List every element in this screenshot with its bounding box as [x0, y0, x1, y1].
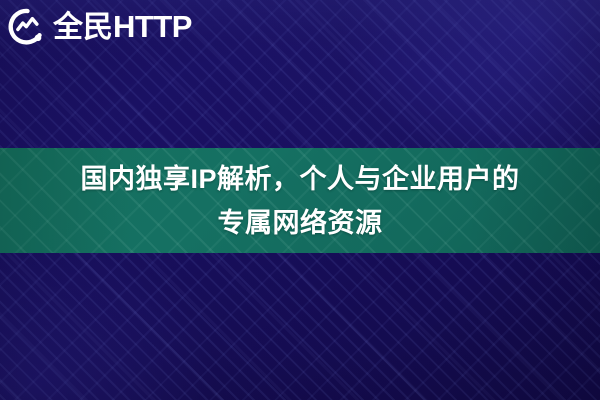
brand-logo-text: 全民 HTTP [53, 11, 192, 43]
circular-q-mountain-icon [8, 8, 46, 46]
headline-banner: 国内独享IP解析，个人与企业用户的 专属网络资源 [0, 148, 600, 253]
brand-name-cn: 全民 [53, 13, 113, 43]
headline-line-1: 国内独享IP解析，个人与企业用户的 [80, 157, 519, 201]
headline-line-2: 专属网络资源 [218, 201, 383, 245]
brand-name-en: HTTP [113, 11, 192, 42]
promo-poster: 全民 HTTP 国内独享IP解析，个人与企业用户的 专属网络资源 [0, 0, 600, 400]
brand-logo[interactable]: 全民 HTTP [8, 6, 192, 48]
headline-text-block: 国内独享IP解析，个人与企业用户的 专属网络资源 [0, 148, 600, 253]
